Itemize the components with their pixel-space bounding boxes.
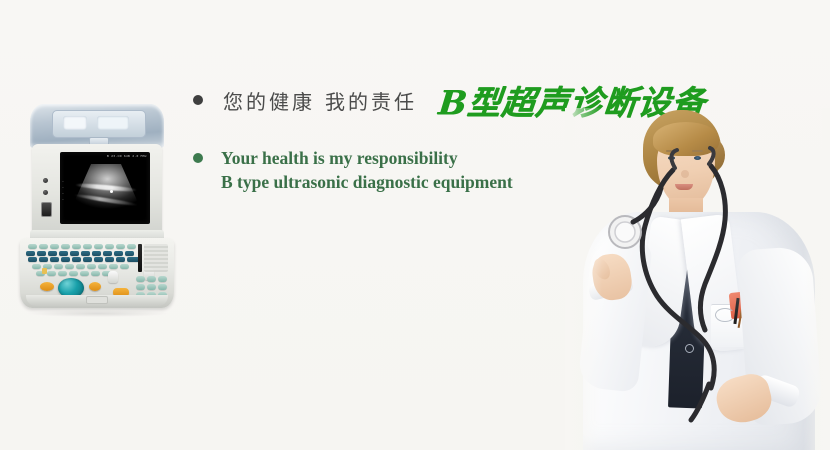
doctor-eyebrow-right xyxy=(692,150,703,152)
tgc-slider-ticks xyxy=(144,244,168,272)
monitor-led-top xyxy=(43,178,48,183)
english-slogan-line-2: B type ultrasonic diagnostic equipment xyxy=(221,170,513,194)
tgc-slider-strip[interactable] xyxy=(138,244,142,272)
orange-button-left[interactable] xyxy=(40,282,54,291)
doctor-eye-right xyxy=(694,156,701,160)
bullet-point-icon xyxy=(193,95,203,105)
machine-lid-cutout-left xyxy=(63,116,87,130)
bullet-point-icon-green xyxy=(193,153,203,163)
english-slogan-line-1: Your health is my responsibility xyxy=(221,146,513,170)
ultrasound-display-screen: B 23.CN 6dB 2.0 MHz ———— xyxy=(60,152,150,224)
screen-overlay-text: B 23.CN 6dB 2.0 MHz xyxy=(107,154,147,158)
machine-front-latch xyxy=(86,296,108,304)
doctor-photo xyxy=(565,108,830,450)
machine-drop-shadow xyxy=(28,310,168,317)
ultrasound-machine-image: B 23.CN 6dB 2.0 MHz ———— xyxy=(18,104,176,319)
monitor-led-bottom xyxy=(43,190,48,195)
machine-lid xyxy=(30,104,164,148)
doctor-hair-front xyxy=(653,122,719,156)
machine-monitor-housing: B 23.CN 6dB 2.0 MHz ———— xyxy=(32,144,162,234)
promo-banner: B 23.CN 6dB 2.0 MHz ———— xyxy=(0,0,830,450)
monitor-power-switch xyxy=(41,202,52,217)
keyboard-row-3 xyxy=(28,257,141,262)
indicator-light xyxy=(42,268,47,274)
machine-lid-cutout-right xyxy=(97,116,129,130)
doctor-coat-button xyxy=(685,344,694,353)
control-knob-left[interactable] xyxy=(108,271,118,283)
pocket-clip xyxy=(715,308,735,322)
keyboard-row-5 xyxy=(36,271,111,276)
doctor-eye-left xyxy=(668,156,675,160)
chinese-slogan-text: 您的健康我的责任 xyxy=(223,86,417,115)
doctor-eyebrow-left xyxy=(666,150,677,152)
ultrasound-scan-marker xyxy=(110,190,113,193)
machine-keyboard-deck xyxy=(20,238,174,308)
screen-depth-ticks: ———— xyxy=(62,178,64,202)
machine-lid-handle-recess xyxy=(52,110,146,138)
orange-button-right[interactable] xyxy=(89,282,101,291)
doctor-nose xyxy=(681,170,689,178)
keyboard-row-1 xyxy=(28,244,136,249)
keyboard-row-2 xyxy=(26,251,134,256)
